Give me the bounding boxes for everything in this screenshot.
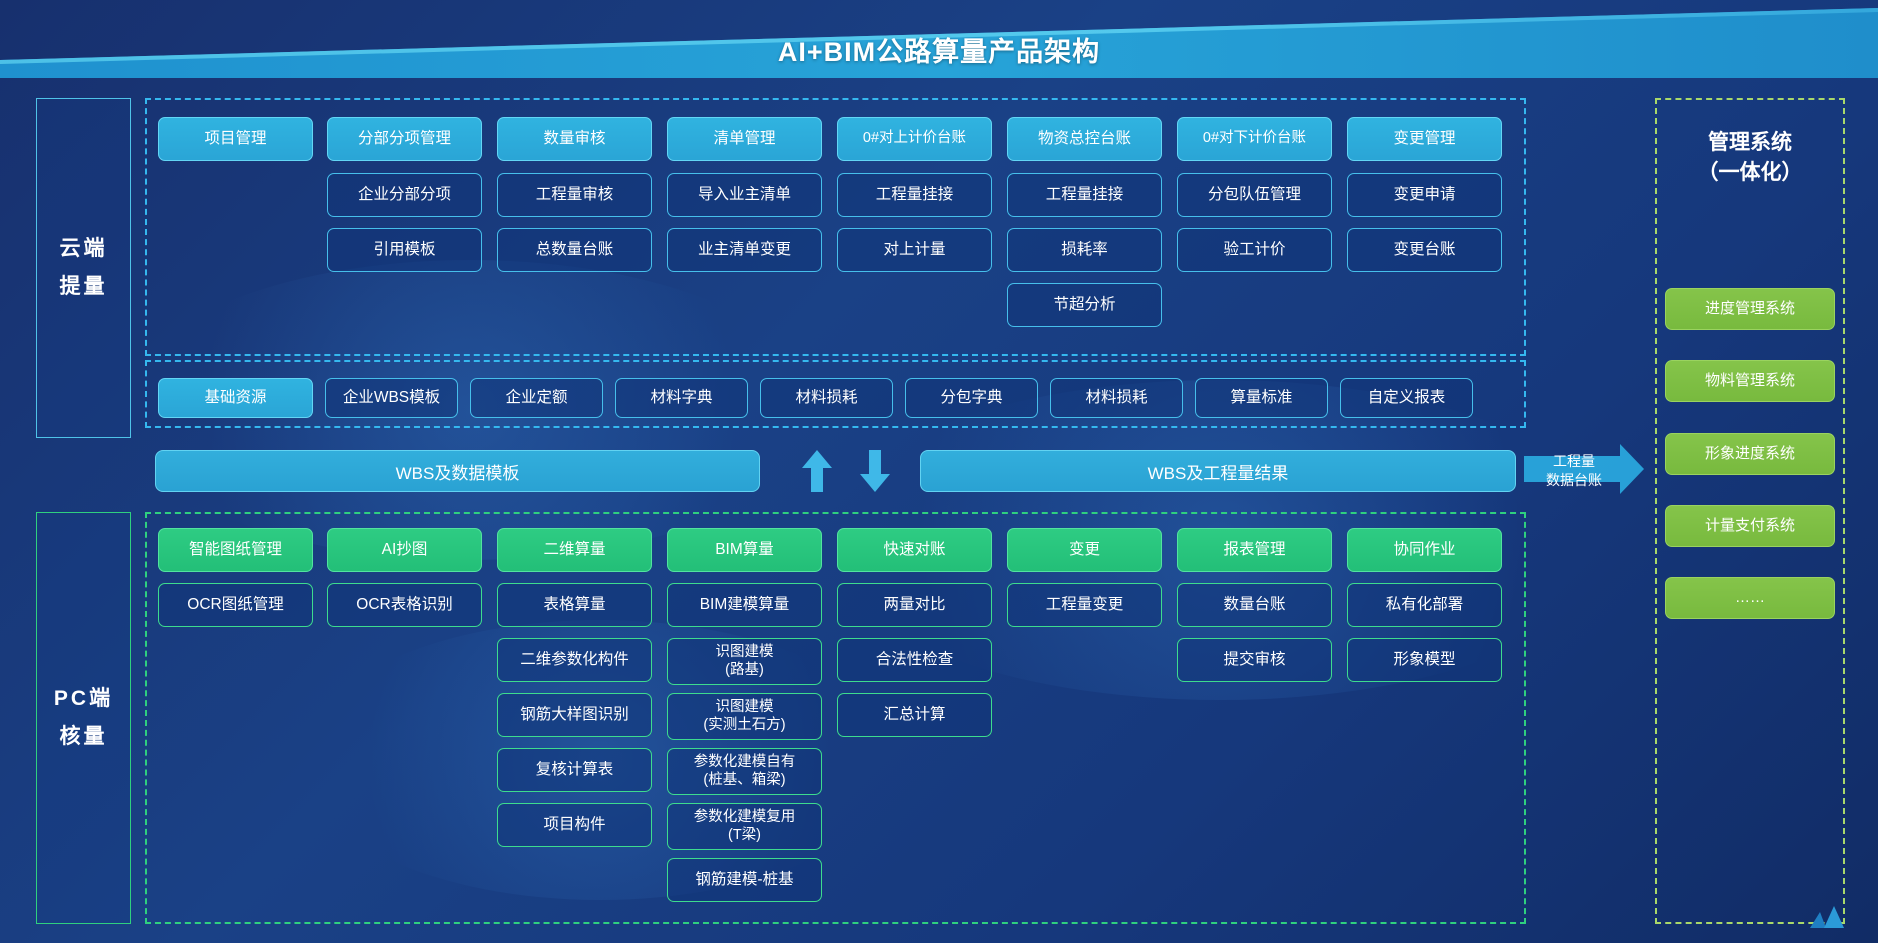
management-system-title: 管理系统 （一体化） xyxy=(1657,128,1843,189)
cloud-module-sub[interactable]: 工程量审核 xyxy=(497,173,652,217)
cloud-module-head[interactable]: 变更管理 xyxy=(1347,117,1502,161)
pc-module-sub[interactable]: 参数化建模复用 (T梁) xyxy=(667,803,822,850)
pc-module-sub[interactable]: 形象模型 xyxy=(1347,638,1502,682)
resource-item[interactable]: 算量标准 xyxy=(1195,378,1328,418)
cloud-module-sub[interactable]: 工程量挂接 xyxy=(837,173,992,217)
pc-module-sub[interactable]: 数量台账 xyxy=(1177,583,1332,627)
up-arrow-icon xyxy=(800,448,834,494)
header-banner: AI+BIM公路算量产品架构 xyxy=(0,0,1878,78)
cloud-module-sub[interactable]: 节超分析 xyxy=(1007,283,1162,327)
resource-item[interactable]: 材料损耗 xyxy=(760,378,893,418)
cloud-module-head[interactable]: 0#对下计价台账 xyxy=(1177,117,1332,161)
pc-module-head[interactable]: 智能图纸管理 xyxy=(158,528,313,572)
cloud-module-sub[interactable]: 总数量台账 xyxy=(497,228,652,272)
pc-module-head[interactable]: 二维算量 xyxy=(497,528,652,572)
pc-module-sub[interactable]: 表格算量 xyxy=(497,583,652,627)
wbs-quantity-result-bar[interactable]: WBS及工程量结果 xyxy=(920,450,1516,492)
cloud-module-sub[interactable]: 引用模板 xyxy=(327,228,482,272)
cloud-module-head[interactable]: 数量审核 xyxy=(497,117,652,161)
cloud-module-sub[interactable]: 导入业主清单 xyxy=(667,173,822,217)
cloud-module-head[interactable]: 清单管理 xyxy=(667,117,822,161)
pc-module-sub[interactable]: 工程量变更 xyxy=(1007,583,1162,627)
page-title: AI+BIM公路算量产品架构 xyxy=(0,30,1878,69)
cloud-label-line-2: 提量 xyxy=(60,268,108,306)
cloud-label-line-1: 云端 xyxy=(60,230,108,268)
pc-module-sub[interactable]: 二维参数化构件 xyxy=(497,638,652,682)
cloud-module-sub[interactable]: 分包队伍管理 xyxy=(1177,173,1332,217)
resource-item[interactable]: 分包字典 xyxy=(905,378,1038,418)
pc-label-line-1: PC端 xyxy=(54,680,113,718)
management-system-item[interactable]: 进度管理系统 xyxy=(1665,288,1835,330)
pc-module-sub[interactable]: 私有化部署 xyxy=(1347,583,1502,627)
management-system-item[interactable]: 形象进度系统 xyxy=(1665,433,1835,475)
cloud-module-sub[interactable]: 对上计量 xyxy=(837,228,992,272)
cloud-module-sub[interactable]: 业主清单变更 xyxy=(667,228,822,272)
management-system-item[interactable]: 物料管理系统 xyxy=(1665,360,1835,402)
pc-module-head[interactable]: 快速对账 xyxy=(837,528,992,572)
management-system-item[interactable]: 计量支付系统 xyxy=(1665,505,1835,547)
pc-module-sub[interactable]: 识图建模 (路基) xyxy=(667,638,822,685)
cloud-module-sub[interactable]: 变更台账 xyxy=(1347,228,1502,272)
cloud-module-head[interactable]: 项目管理 xyxy=(158,117,313,161)
pc-modules-region xyxy=(145,512,1526,924)
pc-module-head[interactable]: 报表管理 xyxy=(1177,528,1332,572)
cloud-module-sub[interactable]: 损耗率 xyxy=(1007,228,1162,272)
pc-module-head[interactable]: AI抄图 xyxy=(327,528,482,572)
pc-module-sub[interactable]: 提交审核 xyxy=(1177,638,1332,682)
down-arrow-icon xyxy=(858,448,892,494)
pc-module-sub[interactable]: 参数化建模自有 (桩基、箱梁) xyxy=(667,748,822,795)
pc-module-sub[interactable]: 项目构件 xyxy=(497,803,652,847)
resource-item[interactable]: 企业定额 xyxy=(470,378,603,418)
pc-module-head[interactable]: BIM算量 xyxy=(667,528,822,572)
pc-module-sub[interactable]: 两量对比 xyxy=(837,583,992,627)
resource-head[interactable]: 基础资源 xyxy=(158,378,313,418)
pc-module-head[interactable]: 变更 xyxy=(1007,528,1162,572)
quantity-data-ledger-label: 工程量 数据台账 xyxy=(1524,452,1624,490)
cloud-module-sub[interactable]: 变更申请 xyxy=(1347,173,1502,217)
pc-module-sub[interactable]: 钢筋大样图识别 xyxy=(497,693,652,737)
cloud-section-label: 云端 提量 xyxy=(36,98,131,438)
cloud-module-sub[interactable]: 工程量挂接 xyxy=(1007,173,1162,217)
resource-item[interactable]: 材料损耗 xyxy=(1050,378,1183,418)
pc-module-sub[interactable]: 汇总计算 xyxy=(837,693,992,737)
pc-label-line-2: 核量 xyxy=(60,718,108,756)
pc-module-sub[interactable]: 钢筋建模-桩基 xyxy=(667,858,822,902)
pc-module-sub[interactable]: BIM建模算量 xyxy=(667,583,822,627)
wbs-data-template-bar[interactable]: WBS及数据模板 xyxy=(155,450,760,492)
pc-module-sub[interactable]: 识图建模 (实测土石方) xyxy=(667,693,822,740)
pc-module-head[interactable]: 协同作业 xyxy=(1347,528,1502,572)
cloud-module-head[interactable]: 0#对上计价台账 xyxy=(837,117,992,161)
pc-module-sub[interactable]: OCR图纸管理 xyxy=(158,583,313,627)
pc-section-label: PC端 核量 xyxy=(36,512,131,924)
pc-module-sub[interactable]: OCR表格识别 xyxy=(327,583,482,627)
cloud-module-head[interactable]: 物资总控台账 xyxy=(1007,117,1162,161)
cloud-module-sub[interactable]: 企业分部分项 xyxy=(327,173,482,217)
pc-module-sub[interactable]: 合法性检查 xyxy=(837,638,992,682)
resource-item[interactable]: 材料字典 xyxy=(615,378,748,418)
resource-item[interactable]: 企业WBS模板 xyxy=(325,378,458,418)
cloud-module-sub[interactable]: 验工计价 xyxy=(1177,228,1332,272)
pc-module-sub[interactable]: 复核计算表 xyxy=(497,748,652,792)
brand-logo-icon xyxy=(1810,900,1856,935)
management-system-item[interactable]: …… xyxy=(1665,577,1835,619)
resource-item[interactable]: 自定义报表 xyxy=(1340,378,1473,418)
cloud-module-head[interactable]: 分部分项管理 xyxy=(327,117,482,161)
